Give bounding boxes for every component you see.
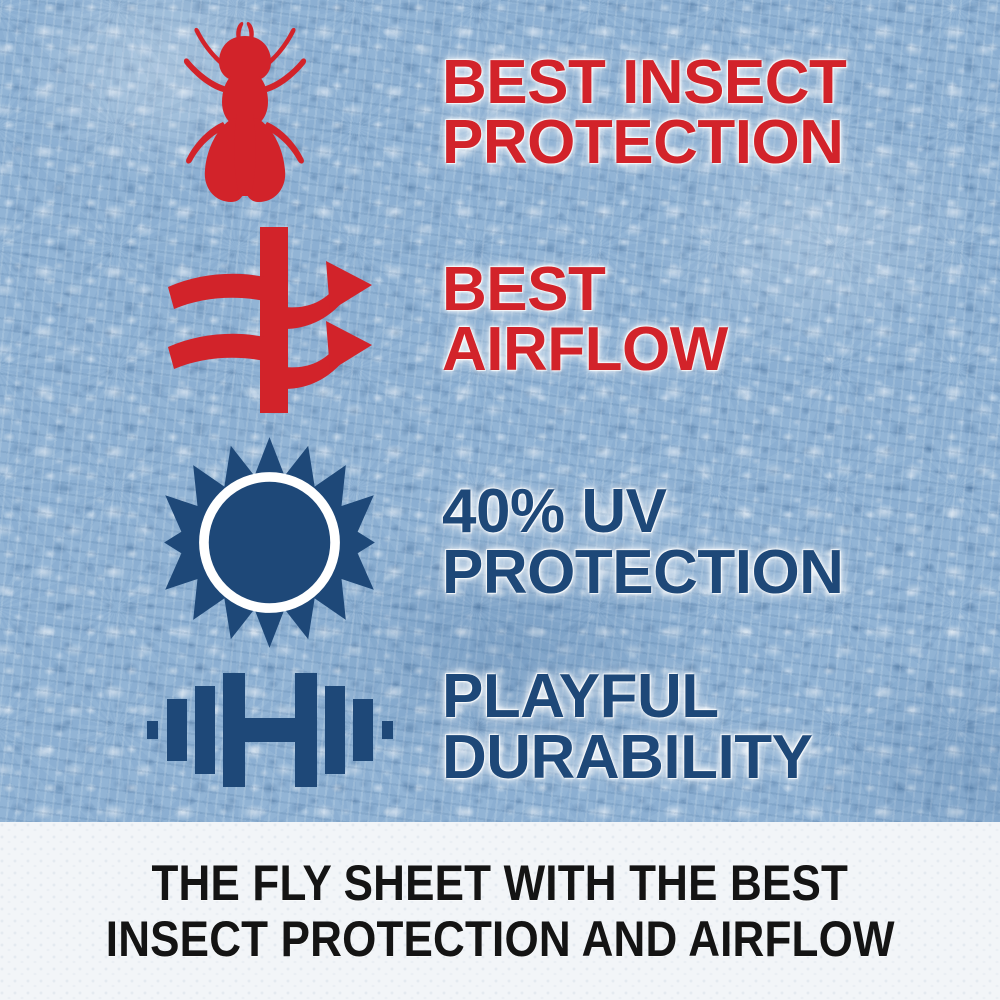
feature-label-line1: BEST [442, 260, 1000, 320]
feature-label-line2: PROTECTION [442, 543, 1000, 603]
product-feature-poster: BEST INSECT PROTECTION [0, 0, 1000, 1000]
feature-icon-cell [0, 645, 290, 810]
feature-row-insect-protection: BEST INSECT PROTECTION [0, 18, 1000, 208]
feature-row-durability: PLAYFUL DURABILITY [0, 645, 1000, 810]
feature-label-line2: DURABILITY [442, 728, 1000, 788]
feature-label-uv-protection: 40% UV PROTECTION [442, 482, 1000, 602]
feature-text-cell: 40% UV PROTECTION [290, 482, 1000, 602]
caption-line-2: INSECT PROTECTION AND AIRFLOW [106, 911, 895, 968]
feature-row-airflow: BEST AIRFLOW [0, 225, 1000, 415]
feature-row-uv-protection: 40% UV PROTECTION [0, 435, 1000, 650]
feature-label-airflow: BEST AIRFLOW [442, 260, 1000, 380]
feature-label-line2: PROTECTION [442, 113, 1000, 173]
feature-text-cell: PLAYFUL DURABILITY [290, 667, 1000, 787]
feature-text-cell: BEST INSECT PROTECTION [290, 53, 1000, 173]
feature-icon-cell [0, 18, 290, 208]
caption-line-1: THE FLY SHEET WITH THE BEST [152, 855, 849, 912]
feature-label-line1: BEST INSECT [442, 53, 1000, 113]
feature-icon-cell [0, 225, 290, 415]
feature-label-line1: 40% UV [442, 482, 1000, 542]
feature-label-durability: PLAYFUL DURABILITY [442, 667, 1000, 787]
feature-icon-cell [0, 435, 290, 650]
feature-label-insect-protection: BEST INSECT PROTECTION [442, 53, 1000, 173]
feature-text-cell: BEST AIRFLOW [290, 260, 1000, 380]
feature-label-line1: PLAYFUL [442, 667, 1000, 727]
caption-bar: THE FLY SHEET WITH THE BEST INSECT PROTE… [0, 822, 1000, 1000]
feature-label-line2: AIRFLOW [442, 320, 1000, 380]
